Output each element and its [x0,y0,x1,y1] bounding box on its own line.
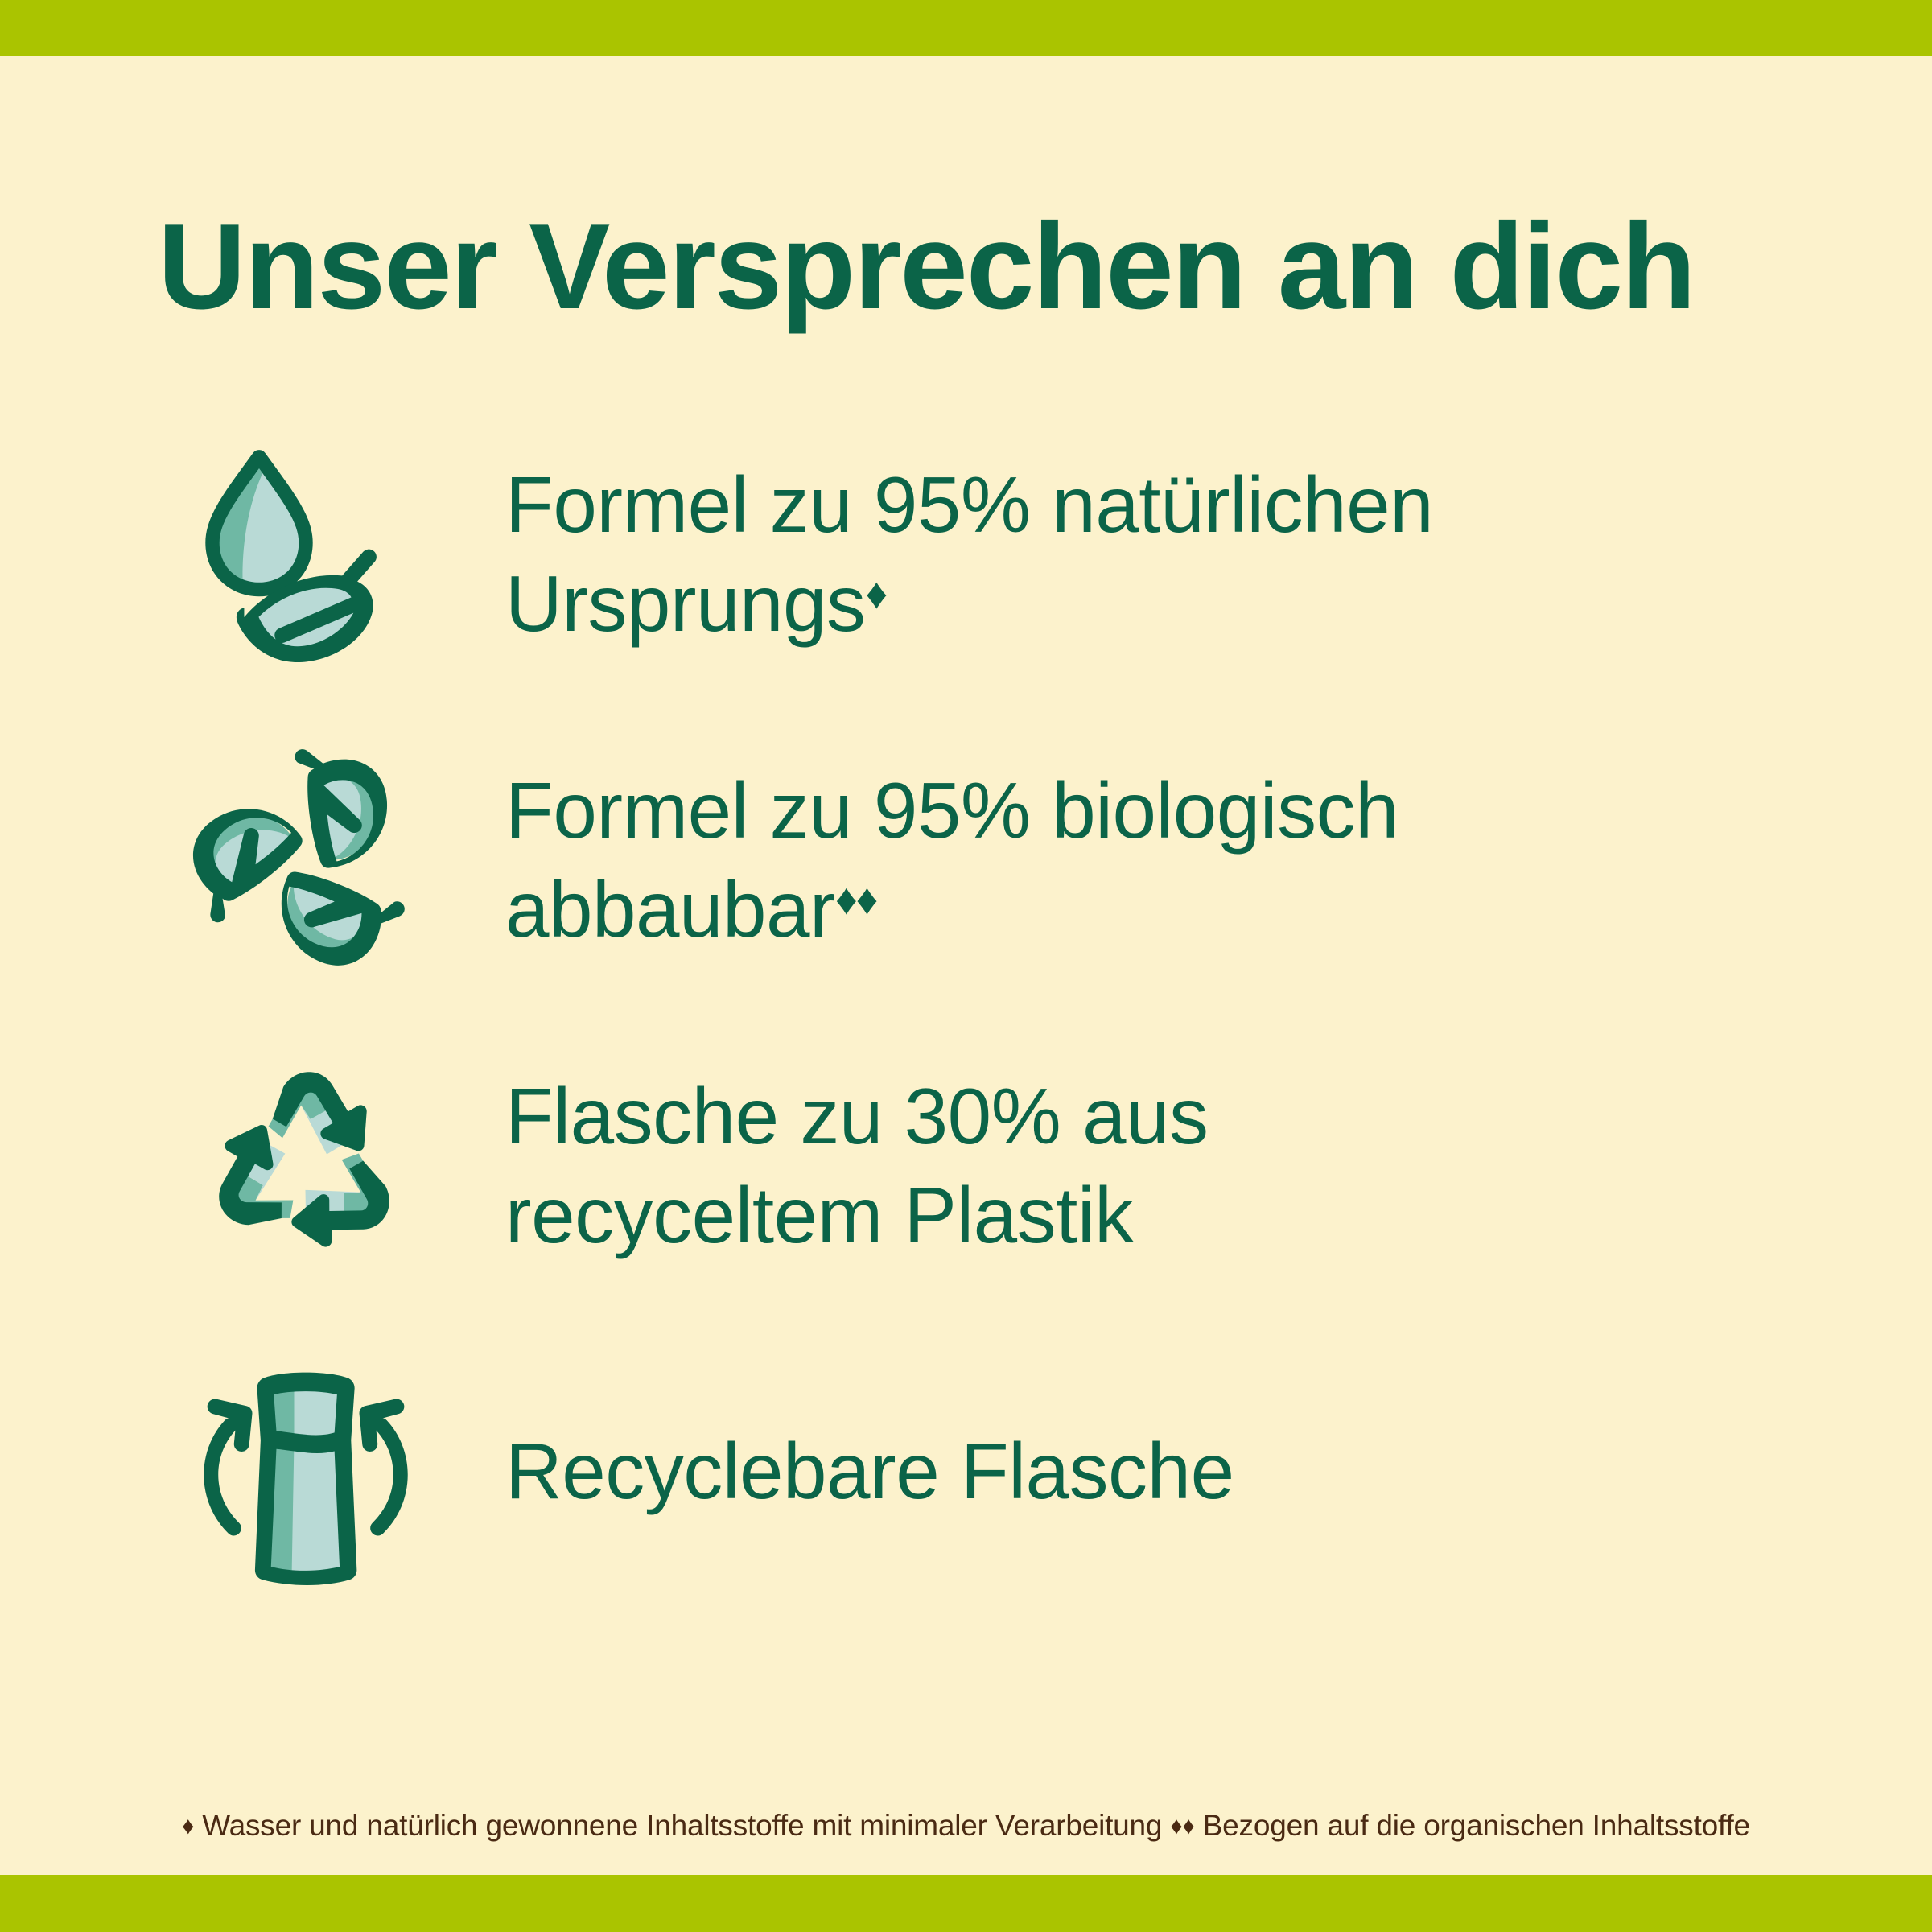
promise-line-2: abbaubar [505,865,835,954]
poster-body: Unser Versprechen an dich For [0,56,1932,1875]
promise-text: Recyclebare Flasche [426,1422,1712,1521]
water-drop-leaf-icon [185,434,426,675]
promise-list: Formel zu 95% natürlichen Ursprungs♦ [0,402,1932,1625]
footnote-marker: ♦♦ [835,875,876,924]
page-title: Unser Versprechen an dich [0,56,1932,327]
promise-line-1: Formel zu 95% biologisch [505,766,1399,855]
promise-line-2: Ursprungs [505,559,866,648]
promise-line-1: Recyclebare Flasche [505,1427,1234,1515]
promise-line-2: recyceltem Plastik [505,1171,1134,1259]
footnote: ♦ Wasser und natürlich gewonnene Inhalts… [0,1809,1932,1843]
promise-poster: Unser Versprechen an dich For [0,0,1932,1932]
list-item: Formel zu 95% natürlichen Ursprungs♦ [0,402,1932,707]
promise-text: Formel zu 95% natürlichen Ursprungs♦ [426,455,1712,654]
list-item: Formel zu 95% biologisch abbaubar♦♦ [0,707,1932,1013]
top-green-band [0,0,1932,56]
promise-line-1: Formel zu 95% natürlichen [505,460,1433,549]
bottom-green-band [0,1875,1932,1932]
footnote-text-1: Wasser und natürlich gewonnene Inhaltsst… [194,1809,1170,1842]
list-item: Flasche zu 30% aus recyceltem Plastik [0,1013,1932,1319]
promise-text: Flasche zu 30% aus recyceltem Plastik [426,1067,1712,1266]
recyclable-bottle-icon [185,1351,426,1592]
footnote-marker-2: ♦♦ [1170,1813,1194,1839]
footnote-marker: ♦ [866,570,887,618]
footnote-text-2: Bezogen auf die organischen Inhaltsstoff… [1195,1809,1750,1842]
list-item: Recyclebare Flasche [0,1319,1932,1625]
three-leaves-cycle-icon [185,739,426,981]
recycling-triangle-icon [185,1045,426,1287]
promise-text: Formel zu 95% biologisch abbaubar♦♦ [426,761,1712,960]
footnote-marker-1: ♦ [182,1813,194,1839]
promise-line-1: Flasche zu 30% aus [505,1072,1208,1160]
